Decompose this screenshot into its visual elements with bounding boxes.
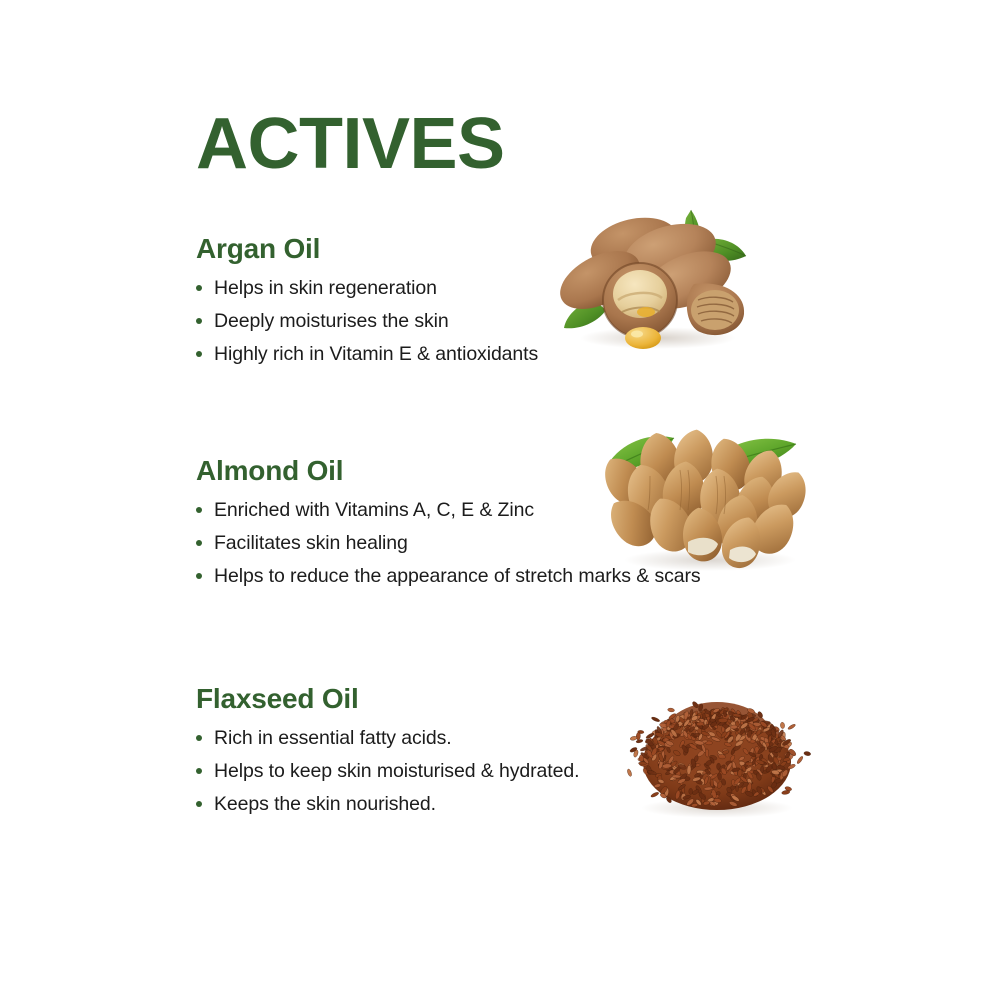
bullet-dot-icon xyxy=(196,318,202,324)
almonds-image xyxy=(588,418,826,580)
list-item-text: Highly rich in Vitamin E & antioxidants xyxy=(214,343,538,365)
bullet-dot-icon xyxy=(196,540,202,546)
list-item-text: Keeps the skin nourished. xyxy=(214,793,436,815)
list-item-text: Facilitates skin healing xyxy=(214,532,408,554)
flaxseeds-image xyxy=(618,662,816,826)
argan-nuts-image xyxy=(548,188,764,360)
bullet-dot-icon xyxy=(196,768,202,774)
bullet-dot-icon xyxy=(196,573,202,579)
list-item-text: Helps to keep skin moisturised & hydrate… xyxy=(214,760,579,782)
bullet-dot-icon xyxy=(196,285,202,291)
list-item-text: Deeply moisturises the skin xyxy=(214,310,449,332)
actives-infographic: ACTIVES Argan Oil Helps in skin regenera… xyxy=(0,0,1000,1000)
bullet-dot-icon xyxy=(196,801,202,807)
list-item-text: Rich in essential fatty acids. xyxy=(214,727,452,749)
bullet-dot-icon xyxy=(196,351,202,357)
list-item-text: Helps in skin regeneration xyxy=(214,277,437,299)
list-item-text: Enriched with Vitamins A, C, E & Zinc xyxy=(214,499,534,521)
bullet-dot-icon xyxy=(196,507,202,513)
bullet-dot-icon xyxy=(196,735,202,741)
page-title: ACTIVES xyxy=(196,108,505,180)
